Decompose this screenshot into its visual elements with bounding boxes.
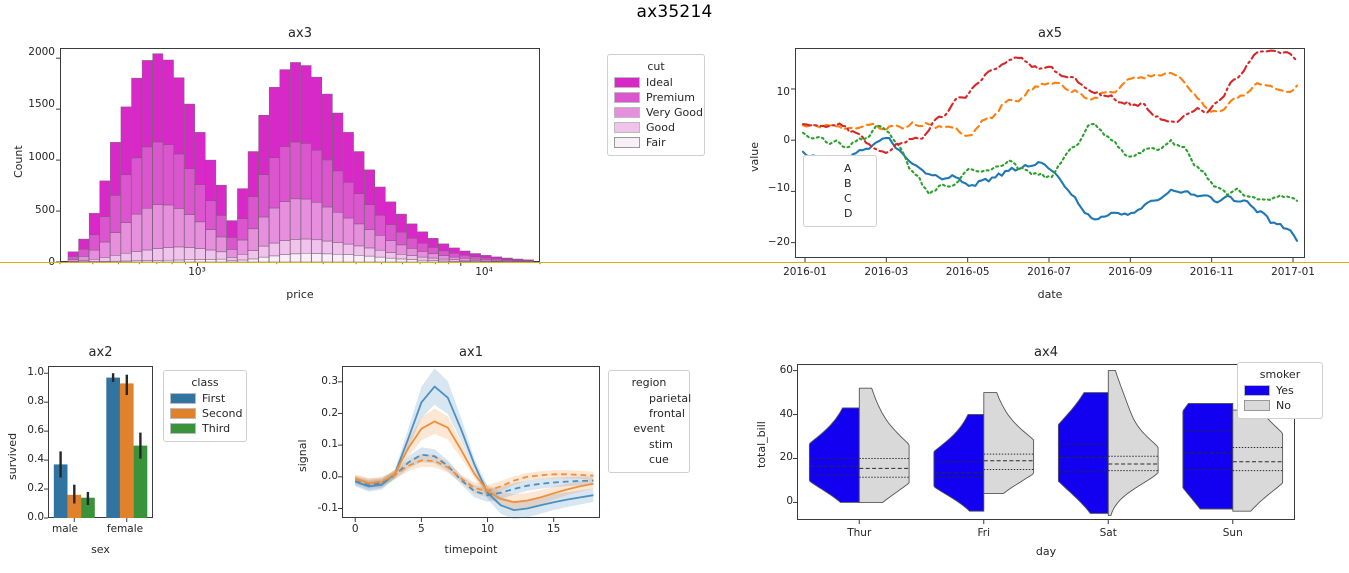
legend-item[interactable]: Fair [614, 136, 698, 149]
ax1-plot [342, 366, 600, 518]
figure-canvas: ax35214 ax3 Count 0 500 1000 1500 2000 1… [0, 0, 1349, 573]
legend-item-label: A [844, 162, 852, 175]
ax3-legend[interactable]: cut IdealPremiumVery GoodGoodFair [607, 54, 705, 156]
legend-swatch [614, 92, 640, 103]
legend-item-label: Premium [646, 91, 695, 104]
ax1-ytick: -0.1 [296, 502, 338, 514]
legend-item-label: B [844, 177, 852, 190]
legend-item-label: Fair [646, 136, 666, 149]
legend-item-label: Yes [1276, 384, 1294, 397]
ax2-xtick-female: female [99, 523, 151, 535]
ax1-ytick: 0.0 [296, 470, 338, 482]
ax5-ylabel: value [748, 142, 761, 172]
legend-swatch [170, 423, 196, 434]
legend-item-label: frontal [649, 407, 685, 420]
ax3-plot [60, 48, 540, 262]
ax2-ytick: 0.6 [0, 424, 44, 436]
ax2-ytick: 0.2 [0, 482, 44, 494]
legend-item[interactable]: Third [170, 422, 240, 435]
legend-item-label: Second [202, 407, 242, 420]
legend-item-label: Ideal [646, 76, 673, 89]
legend-item[interactable]: First [170, 392, 240, 405]
ax1-legend[interactable]: regionparietalfrontaleventstimcue [608, 370, 690, 473]
legend-item[interactable]: B [810, 177, 870, 190]
legend-item-label: stim [649, 438, 673, 451]
legend-swatch [614, 137, 640, 148]
legend-swatch [614, 122, 640, 133]
legend-swatch [1244, 385, 1270, 396]
ax5-ytick-0: 0 [740, 134, 790, 146]
ax1-xlabel: timepoint [342, 543, 600, 556]
legend-item[interactable]: frontal [615, 407, 683, 420]
ax5-ytick-10: 10 [740, 86, 790, 98]
figure-suptitle: ax35214 [0, 2, 1349, 22]
ax4-xtick: Sat [1076, 527, 1140, 539]
ax1-ytick: 0.2 [296, 407, 338, 419]
ax5-ytick-m10: −10 [740, 182, 790, 194]
legend-item-label: parietal [649, 392, 691, 405]
ax2-legend[interactable]: class FirstSecondThird [163, 370, 247, 442]
ax5-xtick: 2016-01 [773, 266, 837, 278]
ax1-ytick: 0.3 [296, 375, 338, 387]
ax5-xtick: 2016-09 [1098, 266, 1162, 278]
ax2-ytick: 0.0 [0, 511, 44, 523]
legend-item[interactable]: Good [614, 121, 698, 134]
ax5-xtick: 2017-01 [1261, 266, 1325, 278]
ax3-ytick-1000: 1000 [5, 151, 55, 163]
ax2-title: ax2 [48, 345, 153, 360]
legend-item-label: No [1276, 399, 1291, 412]
legend-item[interactable]: cue [615, 453, 683, 466]
ax3-ytick-2000: 2000 [5, 46, 55, 58]
legend-item[interactable]: Ideal [614, 76, 698, 89]
ax4-xtick: Sun [1201, 527, 1265, 539]
ax3-title: ax3 [60, 26, 540, 41]
legend-swatch [614, 107, 640, 118]
legend-group-title: event [615, 422, 683, 435]
legend-item[interactable]: C [810, 192, 870, 205]
legend-swatch [170, 393, 196, 404]
ax4-plot [797, 364, 1295, 520]
legend-item[interactable]: Very Good [614, 106, 698, 119]
legend-swatch [614, 77, 640, 88]
legend-group-title: region [615, 376, 683, 389]
ax3-ytick-500: 500 [5, 204, 55, 216]
ax1-ytick: 0.1 [296, 438, 338, 450]
ax2-legend-title: class [170, 376, 240, 389]
ax1-title: ax1 [342, 345, 600, 360]
legend-item-label: C [844, 192, 852, 205]
ax5-xlabel: date [795, 288, 1305, 301]
ax3-xtick-1e4: 10⁴ [462, 266, 506, 278]
legend-item[interactable]: A [810, 162, 870, 175]
ax4-ytick: 40 [755, 408, 793, 420]
legend-item[interactable]: Premium [614, 91, 698, 104]
gold-divider-line [0, 262, 1349, 263]
ax4-ytick: 60 [755, 364, 793, 376]
ax5-ytick-m20: −20 [740, 236, 790, 248]
legend-swatch [170, 408, 196, 419]
ax5-xtick: 2016-05 [936, 266, 1000, 278]
ax4-legend-title: smoker [1244, 368, 1316, 381]
ax2-plot [48, 366, 153, 518]
legend-item[interactable]: No [1244, 399, 1316, 412]
ax1-xtick: 0 [335, 523, 375, 535]
ax3-xtick-1e3: 10³ [175, 266, 219, 278]
legend-item[interactable]: parietal [615, 392, 683, 405]
ax5-title: ax5 [795, 26, 1305, 41]
ax5-xtick: 2016-11 [1180, 266, 1244, 278]
legend-item-label: Third [202, 422, 230, 435]
ax2-ytick: 0.4 [0, 453, 44, 465]
ax5-xtick: 2016-03 [854, 266, 918, 278]
ax2-xlabel: sex [48, 543, 153, 556]
legend-swatch [1244, 400, 1270, 411]
ax4-ytick: 0 [755, 495, 793, 507]
legend-item[interactable]: Yes [1244, 384, 1316, 397]
ax4-legend[interactable]: smoker YesNo [1237, 362, 1323, 419]
ax5-xtick: 2016-07 [1017, 266, 1081, 278]
legend-item[interactable]: D [810, 207, 870, 220]
ax4-ytick: 20 [755, 451, 793, 463]
ax2-ytick: 0.8 [0, 395, 44, 407]
ax5-legend[interactable]: ABCD [803, 155, 877, 227]
ax1-xtick: 5 [401, 523, 441, 535]
legend-item-label: D [844, 207, 852, 220]
ax4-xtick: Fri [952, 527, 1016, 539]
ax3-legend-title: cut [614, 60, 698, 73]
legend-item-label: Good [646, 121, 675, 134]
ax2-xtick-male: male [43, 523, 87, 535]
legend-item-label: Very Good [646, 106, 703, 119]
ax1-xtick: 10 [468, 523, 508, 535]
ax3-xlabel: price [60, 288, 540, 301]
ax4-title: ax4 [797, 345, 1295, 360]
ax2-ytick: 1.0 [0, 366, 44, 378]
legend-item-label: First [202, 392, 225, 405]
ax3-ytick-1500: 1500 [5, 98, 55, 110]
legend-item-label: cue [649, 453, 669, 466]
legend-item[interactable]: stim [615, 438, 683, 451]
legend-item[interactable]: Second [170, 407, 240, 420]
ax4-xlabel: day [797, 545, 1295, 558]
ax4-xtick: Thur [827, 527, 891, 539]
ax1-xtick: 15 [534, 523, 574, 535]
